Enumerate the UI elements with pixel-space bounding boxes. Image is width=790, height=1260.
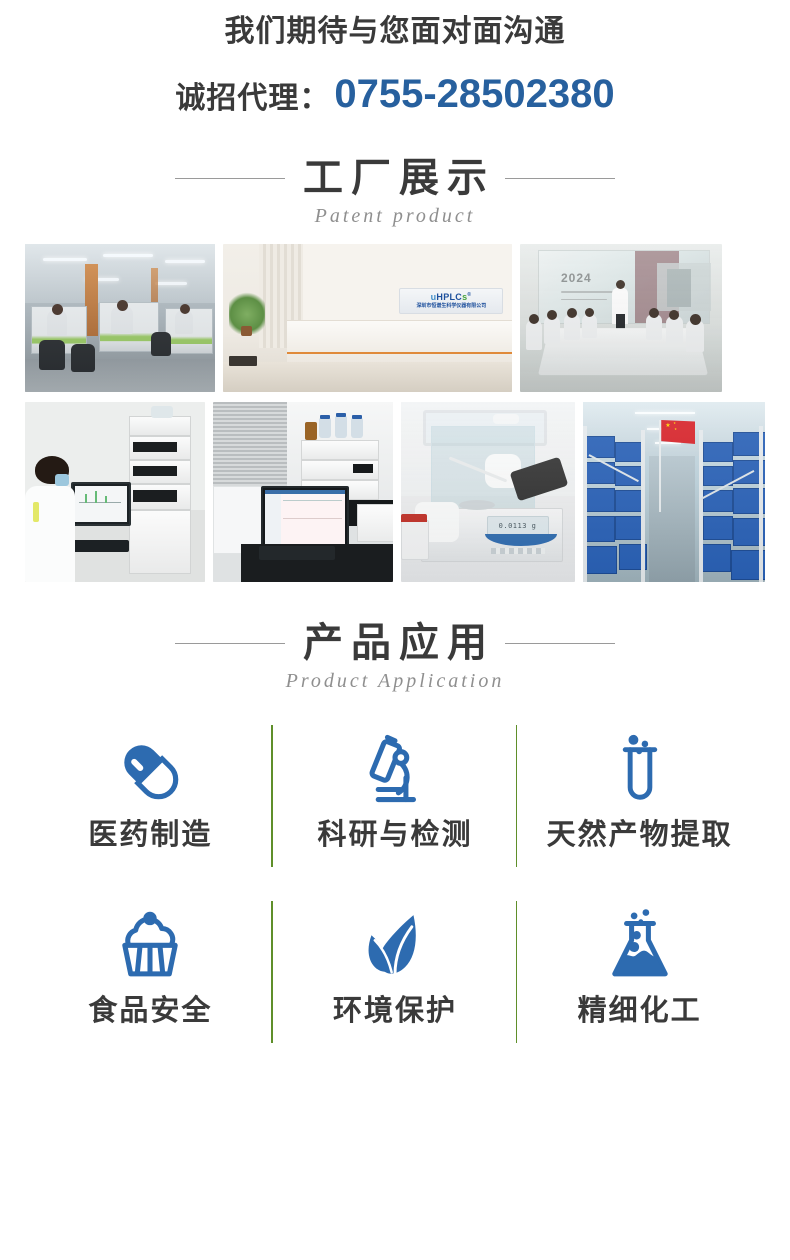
- bottle-cap: [336, 413, 346, 417]
- back-wall: [303, 244, 512, 330]
- application-grid: 医药制造 科研与: [0, 719, 790, 1071]
- company-logo-text: uHPLCs®: [431, 293, 472, 302]
- photo-scene: [25, 244, 215, 392]
- title-rule-right: [505, 643, 615, 644]
- hplc-module: [357, 504, 393, 542]
- gallery-photo-office-workspace[interactable]: [25, 244, 215, 392]
- application-label: 环境保护: [333, 997, 457, 1026]
- photo-shade: [583, 402, 765, 582]
- gallery-photo-meeting-room[interactable]: 2024: [520, 244, 722, 392]
- gallery-photo-warehouse-racks[interactable]: ★ ★ ★: [583, 402, 765, 582]
- application-label: 天然产物提取: [547, 821, 733, 850]
- computer-monitor: [71, 482, 131, 526]
- photo-shade: [520, 244, 722, 392]
- bottle-cap: [320, 415, 330, 419]
- application-label: 科研与检测: [318, 821, 473, 850]
- peak: [85, 494, 87, 503]
- floor: [223, 362, 512, 392]
- application-item-research[interactable]: 科研与检测: [273, 719, 518, 895]
- keyboard: [259, 546, 335, 560]
- reception-desk: [287, 320, 512, 365]
- module-panel: [133, 490, 177, 502]
- gallery-photo-reception-lobby[interactable]: uHPLCs® 深圳市恒谱生科学仪器有限公司: [223, 244, 512, 392]
- title-rule-left: [175, 178, 285, 179]
- module-panel: [353, 464, 373, 473]
- application-item-environment[interactable]: 环境保护: [273, 895, 518, 1071]
- hplc-module: [301, 440, 379, 460]
- monitor-screen: [265, 490, 345, 544]
- agent-contact-line: 诚招代理： 0755-28502380: [0, 72, 790, 117]
- application-item-food-safety[interactable]: 食品安全: [28, 895, 273, 1071]
- gallery-photo-hplc-workstation[interactable]: [213, 402, 393, 582]
- microscope-icon: [353, 719, 437, 823]
- keyboard: [67, 540, 129, 552]
- plant-pot: [241, 326, 252, 336]
- title-rule-left: [175, 643, 285, 644]
- application-label: 精细化工: [578, 997, 702, 1026]
- promo-page: 我们期待与您面对面沟通 诚招代理： 0755-28502380 工厂展示 Pat…: [0, 0, 790, 1260]
- desk-accent: [287, 352, 512, 354]
- photo-scene: uHPLCs® 深圳市恒谱生科学仪器有限公司: [223, 244, 512, 392]
- hplc-module: [129, 416, 191, 436]
- solvent-bottle: [351, 418, 363, 438]
- agent-label: 诚招代理：: [175, 73, 330, 117]
- factory-title-en: Patent product: [0, 205, 790, 228]
- photo-scene: [213, 402, 393, 582]
- module-panel: [133, 442, 177, 452]
- computer-monitor: [261, 486, 349, 548]
- baseboard: [229, 356, 257, 366]
- page-tagline: 我们期待与您面对面沟通: [0, 14, 790, 50]
- company-sign: uHPLCs® 深圳市恒谱生科学仪器有限公司: [399, 288, 503, 314]
- factory-title-zh: 工厂展示: [285, 157, 505, 199]
- company-name-zh: 深圳市恒谱生科学仪器有限公司: [416, 304, 486, 309]
- photo-scene: ★ ★ ★: [583, 402, 765, 582]
- application-item-natural-extraction[interactable]: 天然产物提取: [517, 719, 762, 895]
- factory-gallery: uHPLCs® 深圳市恒谱生科学仪器有限公司: [0, 244, 790, 582]
- flask-icon: [598, 895, 682, 999]
- gallery-photo-technician-hplc[interactable]: [25, 402, 205, 582]
- application-item-pharma[interactable]: 医药制造: [28, 719, 273, 895]
- peak: [95, 491, 97, 503]
- bottle-cap: [352, 415, 362, 419]
- application-title-zh: 产品应用: [285, 622, 505, 664]
- registered-mark: ®: [467, 292, 471, 298]
- chart-baseline: [283, 518, 342, 519]
- application-row-1: 医药制造 科研与: [28, 719, 762, 895]
- test-tube-icon: [599, 719, 681, 823]
- gallery-photo-analytical-balance[interactable]: 0.0113 g: [401, 402, 576, 582]
- phone-number[interactable]: 0755-28502380: [334, 72, 614, 117]
- gallery-row-1: uHPLCs® 深圳市恒谱生科学仪器有限公司: [25, 244, 765, 392]
- application-label: 医药制造: [88, 821, 212, 850]
- photo-shade: [25, 244, 215, 392]
- badge-lanyard: [33, 502, 39, 522]
- module-panel: [133, 466, 177, 476]
- application-row-2: 食品安全 环境保护: [28, 895, 762, 1071]
- photo-scene: [25, 402, 205, 582]
- application-item-fine-chemicals[interactable]: 精细化工: [517, 895, 762, 1071]
- title-row: 产品应用: [0, 622, 790, 664]
- photo-shade: [401, 402, 576, 582]
- solvent-bottle: [319, 418, 331, 438]
- peak: [105, 496, 107, 503]
- capsule-icon: [107, 719, 193, 823]
- amber-bottle: [305, 422, 317, 440]
- hplc-base: [129, 510, 191, 574]
- sidebar-panel: [265, 494, 281, 544]
- technician-coat: [25, 486, 75, 582]
- photo-scene: 2024: [520, 244, 722, 392]
- gallery-row-2: 0.0113 g: [25, 402, 765, 582]
- application-label: 食品安全: [88, 997, 212, 1026]
- application-title-en: Product Application: [0, 670, 790, 693]
- cupcake-icon: [108, 895, 192, 999]
- page-header: 我们期待与您面对面沟通 诚招代理： 0755-28502380: [0, 0, 790, 117]
- title-rule-right: [505, 178, 615, 179]
- face-mask: [55, 474, 69, 486]
- application-section-title: 产品应用 Product Application: [0, 622, 790, 693]
- monitor-screen: [75, 486, 127, 522]
- leaf-icon: [353, 895, 437, 999]
- photo-scene: 0.0113 g: [401, 402, 576, 582]
- solvent-bottle: [335, 416, 347, 438]
- solvent-bottles: [151, 406, 173, 418]
- factory-section-title: 工厂展示 Patent product: [0, 157, 790, 228]
- chart-baseline: [283, 500, 342, 501]
- title-row: 工厂展示: [0, 157, 790, 199]
